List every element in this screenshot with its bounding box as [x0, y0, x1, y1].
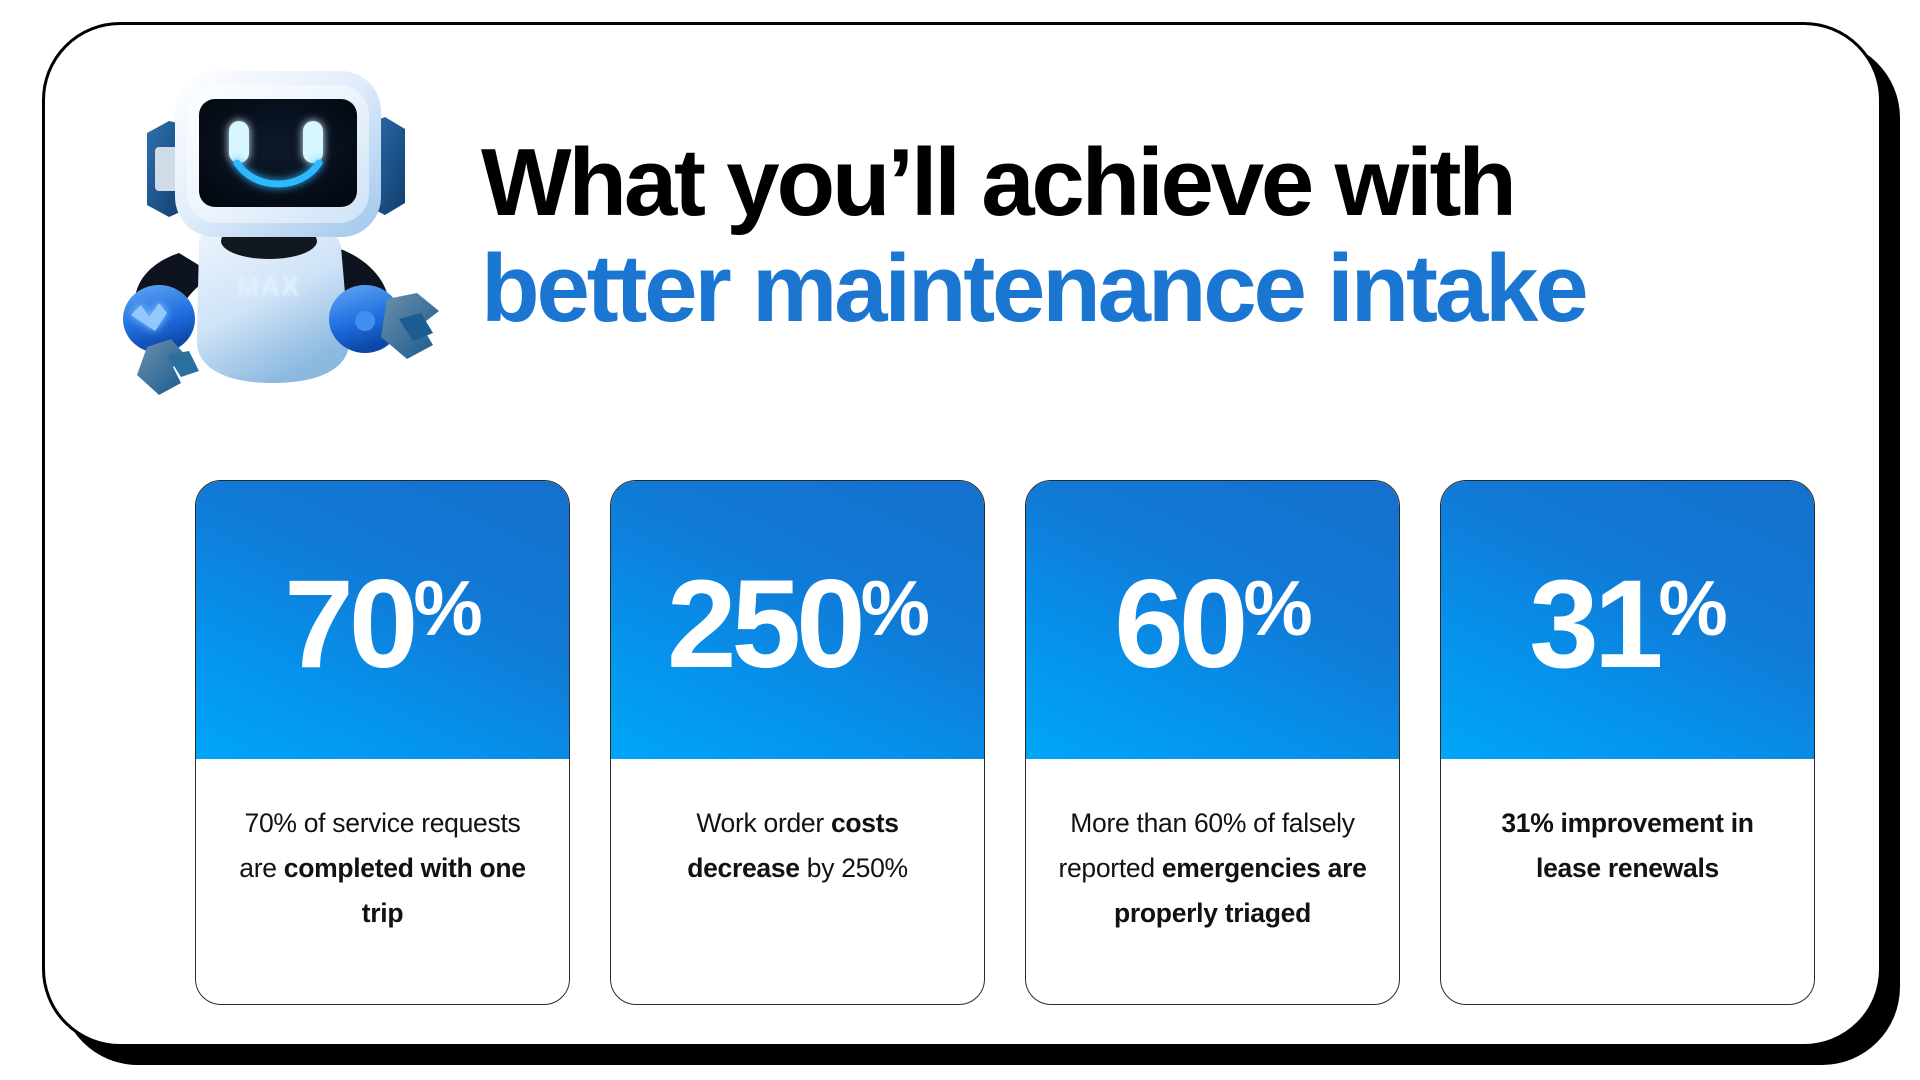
stat-card-header: 31%	[1441, 481, 1814, 759]
stat-value-unit: %	[413, 564, 480, 652]
stat-card-header: 60%	[1026, 481, 1399, 759]
stat-caption: Work order costs decrease by 250%	[639, 801, 957, 1004]
stat-card-body: 70% of service requests are completed wi…	[196, 759, 569, 1004]
stat-card-body: Work order costs decrease by 250%	[611, 759, 984, 1004]
stat-caption: 70% of service requests are completed wi…	[224, 801, 542, 1004]
stat-card: 70%70% of service requests are completed…	[195, 480, 570, 1005]
stat-caption-text: by 250%	[800, 853, 908, 883]
infographic-frame: MAX	[42, 22, 1882, 1047]
svg-text:MAX: MAX	[237, 271, 301, 301]
stat-value-number: 60	[1114, 555, 1243, 694]
headline-line-2: better maintenance intake	[481, 236, 1801, 342]
stat-caption-text: Work order	[696, 808, 831, 838]
stat-card: 60%More than 60% of falsely reported eme…	[1025, 480, 1400, 1005]
headline-line-1: What you’ll achieve with	[481, 130, 1801, 236]
stats-card-row: 70%70% of service requests are completed…	[195, 480, 1815, 1005]
stat-card: 31%31% improvement in lease renewals	[1440, 480, 1815, 1005]
stat-value-unit: %	[1243, 564, 1310, 652]
stat-value: 250%	[667, 546, 928, 687]
stat-value: 60%	[1114, 546, 1310, 687]
stat-value-number: 70	[284, 555, 413, 694]
stat-card-header: 250%	[611, 481, 984, 759]
page-title: What you’ll achieve with better maintena…	[481, 130, 1801, 342]
stat-caption-emphasis: completed with one trip	[284, 853, 526, 928]
stat-caption-emphasis: 31% improvement in lease renewals	[1501, 808, 1753, 883]
stat-card: 250%Work order costs decrease by 250%	[610, 480, 985, 1005]
stat-value: 31%	[1529, 546, 1725, 687]
stat-value-unit: %	[861, 564, 928, 652]
stat-card-body: More than 60% of falsely reported emerge…	[1026, 759, 1399, 1004]
stat-value-number: 250	[667, 555, 861, 694]
stat-value: 70%	[284, 546, 480, 687]
stat-value-number: 31	[1529, 555, 1658, 694]
stat-card-header: 70%	[196, 481, 569, 759]
infographic-canvas: MAX	[0, 0, 1920, 1080]
stat-value-unit: %	[1658, 564, 1725, 652]
stat-caption: 31% improvement in lease renewals	[1469, 801, 1787, 1004]
stat-card-body: 31% improvement in lease renewals	[1441, 759, 1814, 1004]
header-section: MAX	[45, 25, 1879, 455]
stat-caption: More than 60% of falsely reported emerge…	[1054, 801, 1372, 1004]
max-robot-mascot-icon: MAX	[103, 47, 463, 417]
